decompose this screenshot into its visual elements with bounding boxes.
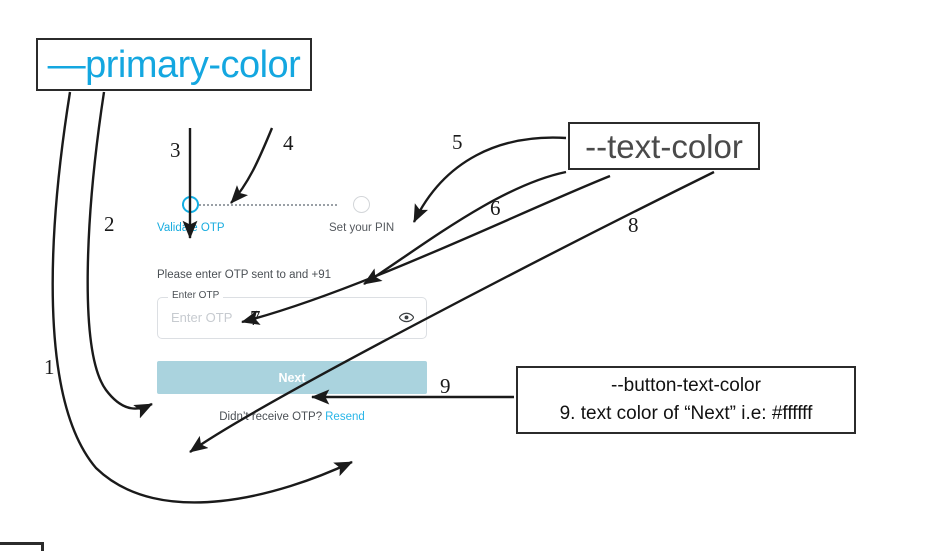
stepper-step-validate-otp[interactable]: Validate OTP	[157, 196, 225, 234]
callout-number-4: 4	[283, 131, 294, 156]
annotated-screenshot-canvas: 1 2 3 4 5 6 7 8 9 —primary-color --text-…	[0, 0, 938, 551]
stepper: Validate OTP Set your PIN	[157, 196, 427, 242]
stepper-step-set-your-pin[interactable]: Set your PIN	[329, 196, 394, 234]
resend-row: Didn’t receive OTP?Resend	[157, 411, 427, 423]
annotation-label-primary-color: —primary-color	[48, 46, 301, 84]
annotation-box-text-color: --text-color	[568, 122, 760, 170]
step-circle-inactive-icon	[353, 196, 370, 213]
otp-input-legend: Enter OTP	[168, 290, 223, 301]
annotation-box-button-text-color: --button-text-color 9. text color of “Ne…	[516, 366, 856, 434]
callout-number-9: 9	[440, 374, 451, 399]
annotation-label-button-text-color-detail: 9. text color of “Next” i.e: #ffffff	[560, 400, 813, 428]
next-button[interactable]: Next	[157, 361, 427, 394]
resend-prompt-text: Didn’t receive OTP?	[219, 411, 322, 423]
callout-number-2: 2	[104, 212, 115, 237]
eye-icon[interactable]	[399, 310, 414, 328]
otp-instruction-text: Please enter OTP sent to and +91	[157, 269, 427, 281]
callout-number-1: 1	[44, 355, 55, 380]
otp-input-wrapper: Enter OTP Enter OTP	[157, 297, 427, 339]
stepper-step-label-validate-otp: Validate OTP	[157, 222, 225, 234]
step-circle-active-icon	[182, 196, 199, 213]
stepper-step-label-set-your-pin: Set your PIN	[329, 222, 394, 234]
resend-link[interactable]: Resend	[325, 411, 365, 423]
callout-number-3: 3	[170, 138, 181, 163]
annotation-label-button-text-color: --button-text-color	[611, 372, 761, 400]
callout-number-6: 6	[490, 196, 501, 221]
annotation-label-text-color: --text-color	[585, 130, 743, 163]
otp-input-placeholder: Enter OTP	[171, 310, 232, 325]
callout-number-8: 8	[628, 213, 639, 238]
annotation-box-corner-stub	[0, 542, 44, 551]
callout-number-5: 5	[452, 130, 463, 155]
callout-number-7: 7	[250, 306, 261, 331]
annotation-box-primary-color: —primary-color	[36, 38, 312, 91]
otp-verification-card: Validate OTP Set your PIN Please enter O…	[157, 196, 427, 423]
